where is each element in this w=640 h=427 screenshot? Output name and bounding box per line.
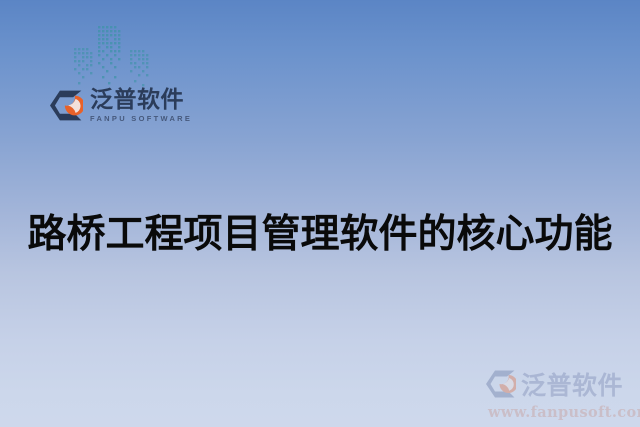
watermark: 泛普软件 www.fanpusoft.com [486,366,634,421]
watermark-name-cn: 泛普软件 [521,366,623,402]
fanpu-logo-mark-watermark [486,369,516,399]
fanpu-logo-wordmark: 泛普软件 FANPU SOFTWARE [90,89,192,123]
watermark-url: www.fanpusoft.com [488,404,640,421]
promo-banner: 泛普软件 FANPU SOFTWARE 路桥工程项目管理软件的核心功能 泛普软件… [0,0,640,427]
page-title: 路桥工程项目管理软件的核心功能 [0,212,640,257]
fanpu-logo-name-cn: 泛普软件 [90,89,192,112]
fanpu-logo-name-en: FANPU SOFTWARE [90,115,192,123]
fanpu-logo-mark [50,89,83,122]
fanpu-logo: 泛普软件 FANPU SOFTWARE [50,89,192,123]
watermark-logo-row: 泛普软件 [486,366,623,402]
